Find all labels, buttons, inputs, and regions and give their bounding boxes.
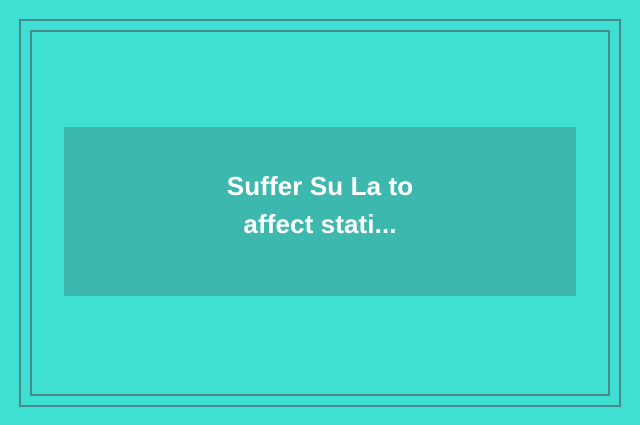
headline-text: Suffer Su La to affect stati... — [227, 167, 413, 243]
headline-line-1: Suffer Su La to — [227, 167, 413, 205]
headline-line-2: affect stati... — [227, 205, 413, 243]
placeholder-canvas: Suffer Su La to affect stati... — [0, 0, 640, 425]
content-panel: Suffer Su La to affect stati... — [64, 127, 576, 296]
